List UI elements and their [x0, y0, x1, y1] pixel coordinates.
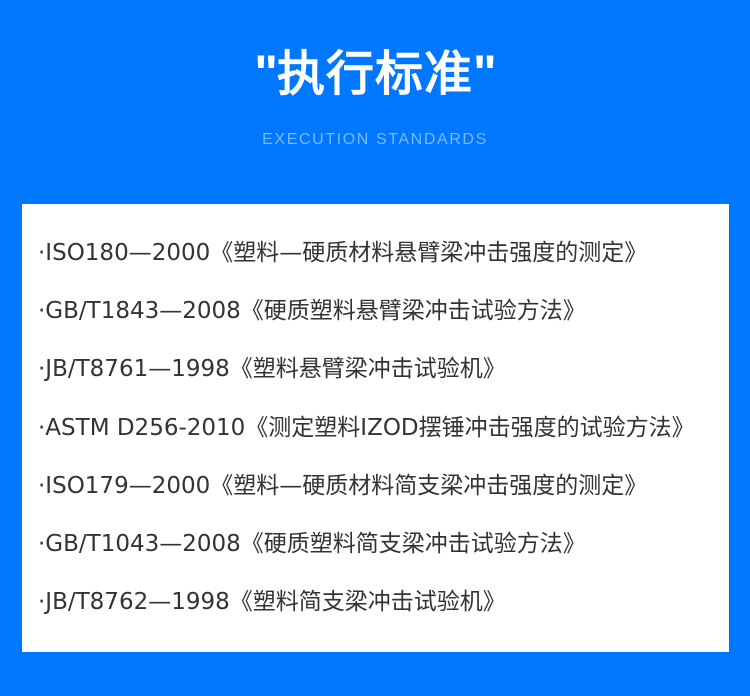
standards-list: ·ISO180—2000《塑料—硬质材料悬臂梁冲击强度的测定》 ·GB/T184…: [22, 224, 729, 632]
page-title: "执行标准": [0, 50, 750, 100]
page-title-text: 执行标准: [277, 50, 473, 98]
execution-standards-banner: "执行标准" EXECUTION STANDARDS ·ISO180—2000《…: [0, 0, 750, 696]
list-item: ·JB/T8762—1998《塑料简支梁冲击试验机》: [22, 588, 729, 617]
open-quote-mark: ": [254, 48, 277, 98]
list-item: ·ASTM D256-2010《测定塑料IZOD摆锤冲击强度的试验方法》: [22, 414, 729, 443]
close-quote-mark: ": [473, 48, 496, 98]
list-item: ·ISO180—2000《塑料—硬质材料悬臂梁冲击强度的测定》: [22, 239, 729, 268]
standards-panel: ·ISO180—2000《塑料—硬质材料悬臂梁冲击强度的测定》 ·GB/T184…: [22, 204, 729, 652]
banner-header: "执行标准" EXECUTION STANDARDS: [0, 0, 750, 204]
list-item: ·JB/T8761—1998《塑料悬臂梁冲击试验机》: [22, 355, 729, 384]
list-item: ·ISO179—2000《塑料—硬质材料简支梁冲击强度的测定》: [22, 472, 729, 501]
list-item: ·GB/T1843—2008《硬质塑料悬臂梁冲击试验方法》: [22, 297, 729, 326]
page-subtitle: EXECUTION STANDARDS: [0, 131, 750, 149]
list-item: ·GB/T1043—2008《硬质塑料简支梁冲击试验方法》: [22, 530, 729, 559]
